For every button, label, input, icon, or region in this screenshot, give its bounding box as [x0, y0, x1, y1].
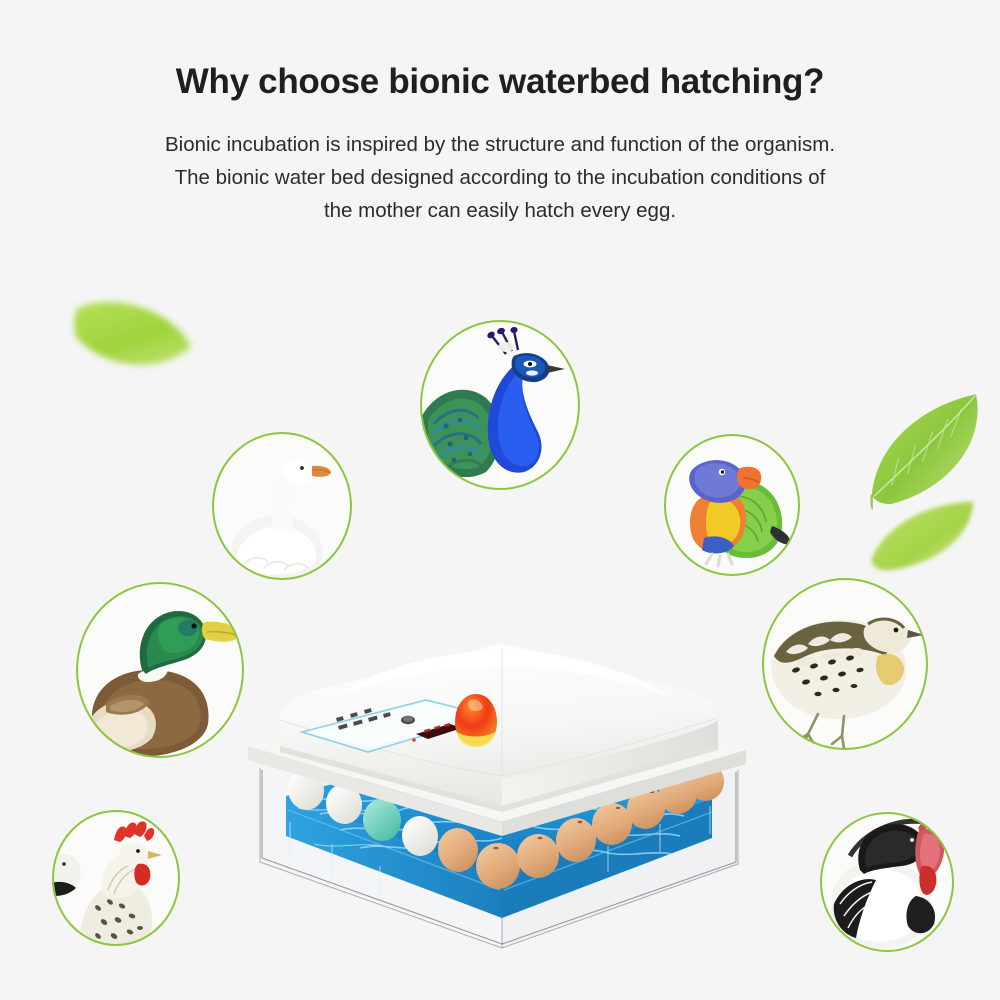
page-title: Why choose bionic waterbed hatching? — [0, 62, 1000, 102]
bird-badge-parrot[interactable] — [664, 434, 800, 576]
incubator-product-image[interactable] — [240, 600, 760, 970]
quail-badge-ring — [762, 578, 928, 750]
bird-badge-rooster[interactable] — [52, 810, 180, 946]
leaf-top-left-icon — [60, 279, 205, 396]
description-line-1: Bionic incubation is inspired by the str… — [64, 128, 936, 161]
bird-badge-goose[interactable] — [212, 432, 352, 580]
parrot-badge-ring — [664, 434, 800, 576]
leaf-right-upper-icon — [847, 387, 1000, 517]
poster-canvas: Why choose bionic waterbed hatching? Bio… — [0, 0, 1000, 1000]
page-description: Bionic incubation is inspired by the str… — [64, 128, 936, 227]
bird-badge-quail[interactable] — [762, 578, 928, 750]
peacock-badge-ring — [420, 320, 580, 490]
status-led — [412, 738, 416, 742]
goose-badge-ring — [212, 432, 352, 580]
description-line-2: The bionic water bed designed according … — [64, 161, 936, 194]
bird-badge-turkey[interactable] — [820, 812, 954, 952]
bird-badge-duck[interactable] — [76, 582, 244, 758]
bird-badge-peacock[interactable] — [420, 320, 580, 490]
egg-shaped-indicator-lamp — [455, 694, 497, 747]
description-line-3: the mother can easily hatch every egg. — [64, 194, 936, 227]
egg-brown — [476, 843, 520, 889]
temperature-knob — [401, 716, 415, 724]
rooster-badge-ring — [52, 810, 180, 946]
duck-badge-ring — [76, 582, 244, 758]
turkey-badge-ring — [820, 812, 954, 952]
